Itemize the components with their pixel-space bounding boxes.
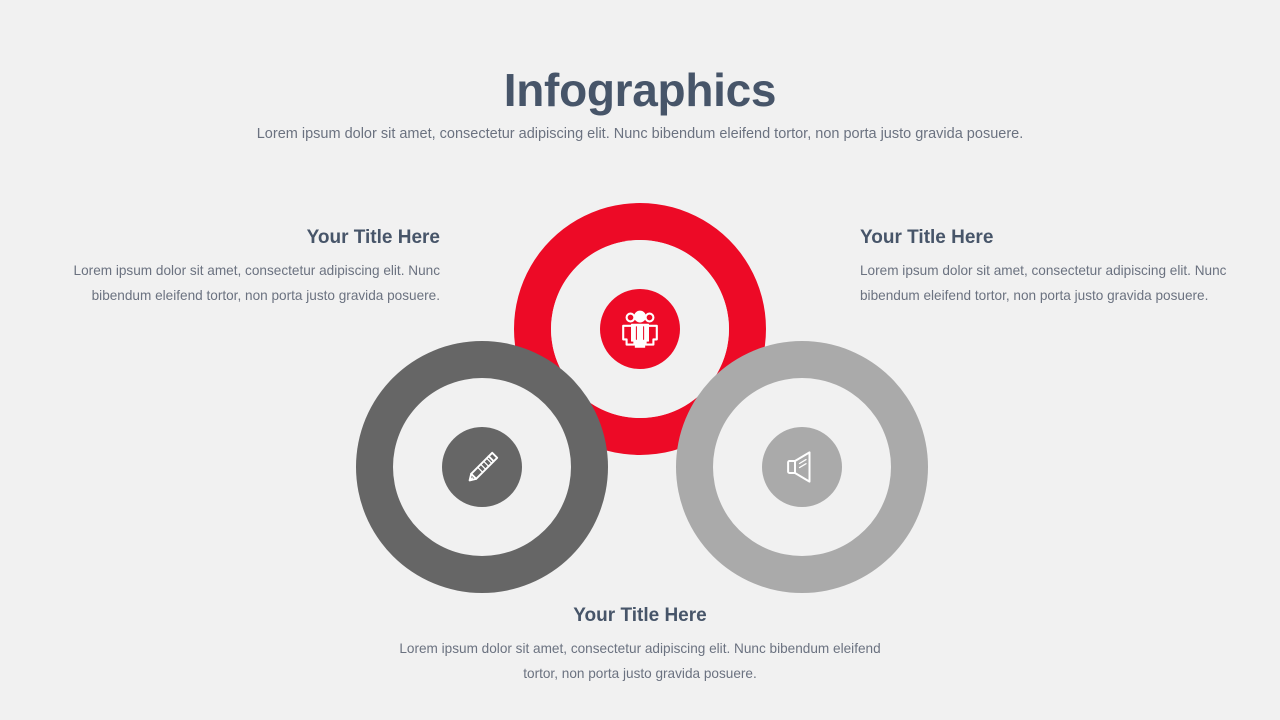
block-title-left: Your Title Here (40, 225, 440, 251)
top-ring-donut (514, 203, 766, 455)
page-title: Infographics (0, 62, 1280, 118)
infographic-slide: Infographics Lorem ipsum dolor sit amet,… (0, 0, 1280, 720)
block-title-right: Your Title Here (860, 225, 1240, 251)
block-body-left: Lorem ipsum dolor sit amet, consectetur … (40, 258, 440, 308)
left-ring-gap (393, 378, 571, 556)
group-people-icon (623, 312, 657, 348)
block-body-bottom: Lorem ipsum dolor sit amet, consectetur … (390, 636, 890, 686)
text-block-left: Your Title Here Lorem ipsum dolor sit am… (40, 225, 440, 308)
block-title-bottom: Your Title Here (390, 603, 890, 629)
right-ring-outer (676, 341, 928, 593)
right-ring-gap (713, 378, 891, 556)
text-block-bottom: Your Title Here Lorem ipsum dolor sit am… (390, 603, 890, 686)
left-ring-group[interactable] (356, 341, 608, 593)
left-ring-hub[interactable] (442, 427, 522, 507)
text-block-right: Your Title Here Lorem ipsum dolor sit am… (860, 225, 1240, 308)
speaker-icon (788, 452, 809, 481)
right-ring-hub[interactable] (762, 427, 842, 507)
top-ring-group[interactable] (514, 203, 766, 455)
top-ring-gap (551, 240, 729, 418)
page-subtitle: Lorem ipsum dolor sit amet, consectetur … (0, 124, 1280, 144)
header: Infographics Lorem ipsum dolor sit amet,… (0, 62, 1280, 144)
top-ring-hub[interactable] (600, 289, 680, 369)
right-ring-group[interactable] (676, 341, 928, 593)
block-body-right: Lorem ipsum dolor sit amet, consectetur … (860, 258, 1240, 308)
left-ring-outer (356, 341, 608, 593)
pencil-icon (470, 453, 498, 481)
